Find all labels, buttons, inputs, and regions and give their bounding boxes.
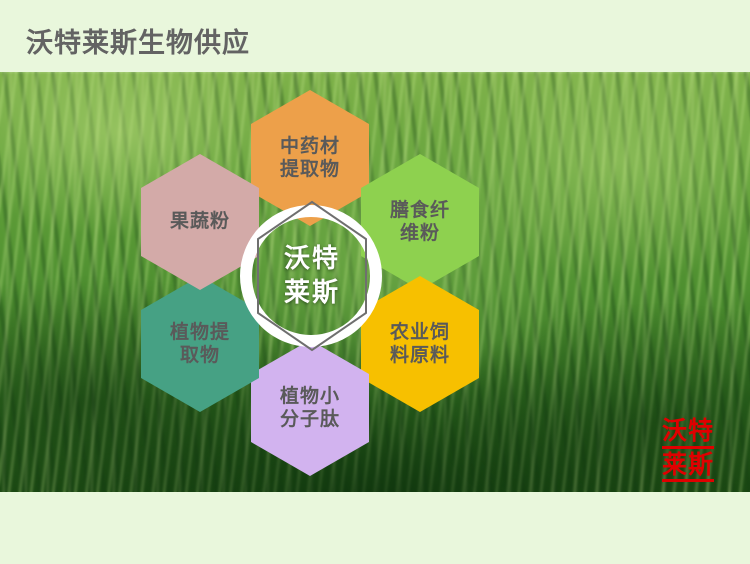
hexagon-label-fruit-veg-powder: 果蔬粉 [170, 210, 230, 233]
slide-root: 沃特莱斯生物供应 中药材 提取物 膳食纤 维粉 农业饲 料原料 植物小 分子肽 … [0, 0, 750, 564]
hexagon-label-plant-extract: 植物提 取物 [170, 321, 230, 367]
hexagon-center-brand[interactable]: 沃特 莱斯 [256, 200, 368, 352]
center-brand-label: 沃特 莱斯 [284, 242, 340, 310]
page-title: 沃特莱斯生物供应 [26, 21, 250, 60]
brand-logo-line-1: 沃特 [662, 418, 714, 449]
footer-band [0, 492, 750, 564]
hexagon-plant-peptide[interactable]: 植物小 分子肽 [251, 340, 369, 476]
header-band: 沃特莱斯生物供应 [0, 0, 750, 72]
brand-logo-line-2: 莱斯 [662, 452, 714, 483]
hexagon-label-tcm-extract: 中药材 提取物 [280, 135, 340, 181]
hexagon-plant-extract[interactable]: 植物提 取物 [141, 276, 259, 412]
hexagon-label-feed-material: 农业饲 料原料 [390, 321, 450, 367]
hexagon-label-plant-peptide: 植物小 分子肽 [280, 385, 340, 431]
photo-stage: 中药材 提取物 膳食纤 维粉 农业饲 料原料 植物小 分子肽 植物提 取物 果蔬… [0, 72, 750, 492]
brand-logo: 沃特 莱斯 [662, 418, 714, 482]
hexagon-cluster: 中药材 提取物 膳食纤 维粉 农业饲 料原料 植物小 分子肽 植物提 取物 果蔬… [125, 82, 495, 482]
hexagon-label-dietary-fiber: 膳食纤 维粉 [390, 199, 450, 245]
